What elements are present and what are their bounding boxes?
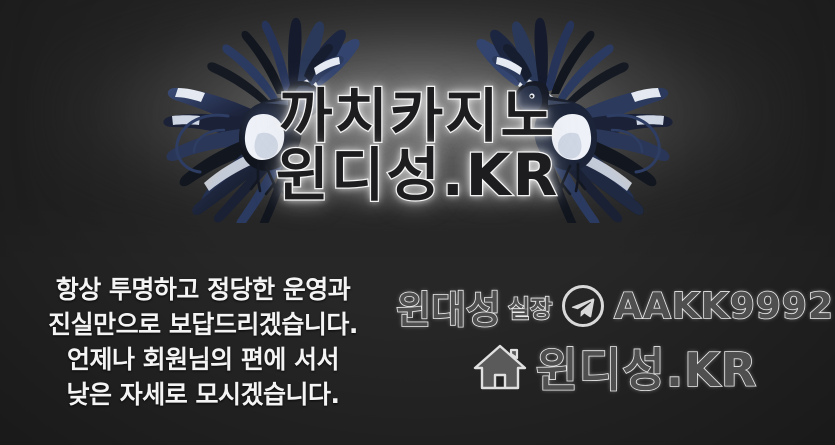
slogan-line-3: 언제나 회원님의 편에 서서 — [18, 342, 388, 377]
website-row[interactable]: 윈디성.KR — [405, 336, 825, 398]
site-domain[interactable]: 윈디성.KR — [536, 334, 758, 400]
casino-promo-banner: 까치카지노 윈디성.KR 항상 투명하고 정당한 운영과 진실만으로 보답드리겠… — [0, 0, 835, 445]
magpie-illustration-left — [108, 8, 398, 223]
manager-name: 윈대성 — [396, 279, 501, 334]
manager-role: 실장 — [508, 289, 552, 324]
home-icon — [473, 343, 527, 391]
contact-block: 윈대성 실장 AAKK9992 윈디성.KR — [405, 278, 825, 398]
slogan-line-2: 진실만으로 보답드리겠습니다. — [18, 307, 388, 342]
telegram-contact-row[interactable]: 윈대성 실장 AAKK9992 — [405, 278, 825, 334]
telegram-icon[interactable] — [561, 284, 605, 328]
telegram-id[interactable]: AAKK9992 — [614, 286, 834, 327]
slogan-line-4: 낮은 자세로 모시겠습니다. — [18, 377, 388, 412]
magpie-illustration-right — [438, 8, 728, 223]
slogan-block: 항상 투명하고 정당한 운영과 진실만으로 보답드리겠습니다. 언제나 회원님의… — [18, 272, 388, 412]
slogan-line-1: 항상 투명하고 정당한 운영과 — [18, 272, 388, 307]
